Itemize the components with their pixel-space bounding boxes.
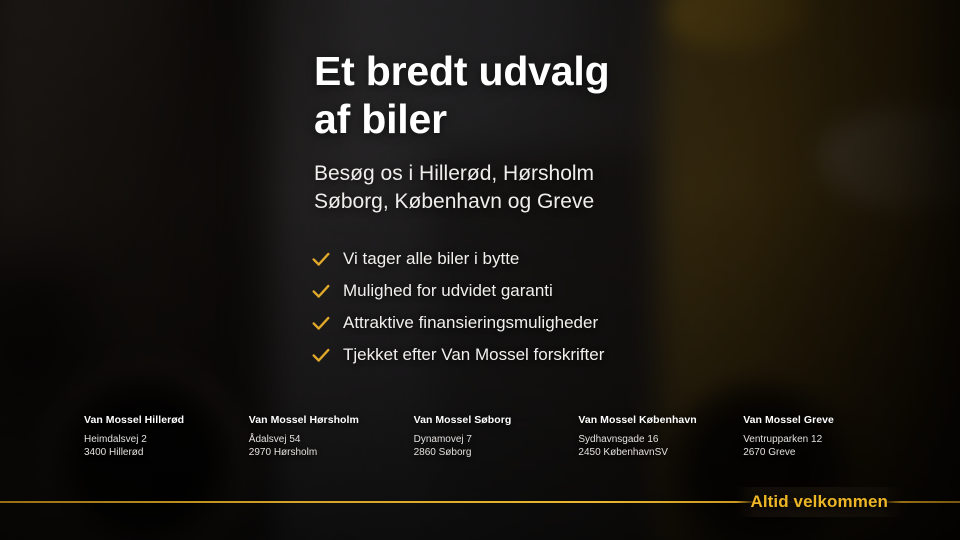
benefit-item: Attraktive finansieringsmuligheder xyxy=(310,307,604,338)
dealer-hillerod: Van Mossel Hillerød Heimdalsvej 2 3400 H… xyxy=(84,414,249,460)
dealer-greve: Van Mossel Greve Ventrupparken 12 2670 G… xyxy=(743,414,908,460)
dealer-street: Dynamovej 7 xyxy=(414,433,579,446)
dealer-name: Van Mossel Greve xyxy=(743,414,908,426)
benefit-label: Tjekket efter Van Mossel forskrifter xyxy=(343,346,604,363)
dealer-name: Van Mossel København xyxy=(578,414,743,426)
dealer-street: Heimdalsvej 2 xyxy=(84,433,249,446)
promo-banner: Et bredt udvalg af biler Besøg os i Hill… xyxy=(0,0,960,540)
benefit-label: Mulighed for udvidet garanti xyxy=(343,282,553,299)
tagline-container: Altid velkommen xyxy=(736,487,902,517)
dealer-city: 2670 Greve xyxy=(743,446,908,459)
benefit-item: Tjekket efter Van Mossel forskrifter xyxy=(310,339,604,370)
check-icon xyxy=(310,312,332,334)
check-icon xyxy=(310,280,332,302)
dealer-street: Ådalsvej 54 xyxy=(249,433,414,446)
benefit-label: Attraktive finansieringsmuligheder xyxy=(343,314,598,331)
subtitle: Besøg os i Hillerød, Hørsholm Søborg, Kø… xyxy=(314,160,934,216)
dealer-name: Van Mossel Hillerød xyxy=(84,414,249,426)
dealer-horsholm: Van Mossel Hørsholm Ådalsvej 54 2970 Hør… xyxy=(249,414,414,460)
banner-content: Et bredt udvalg af biler Besøg os i Hill… xyxy=(0,0,960,540)
dealer-city: 2970 Hørsholm xyxy=(249,446,414,459)
tagline: Altid velkommen xyxy=(750,492,888,512)
dealer-city: 3400 Hillerød xyxy=(84,446,249,459)
headline: Et bredt udvalg af biler xyxy=(314,48,914,144)
benefit-label: Vi tager alle biler i bytte xyxy=(343,250,519,267)
dealer-kobenhavn: Van Mossel København Sydhavnsgade 16 245… xyxy=(578,414,743,460)
dealer-soborg: Van Mossel Søborg Dynamovej 7 2860 Søbor… xyxy=(414,414,579,460)
dealer-locations: Van Mossel Hillerød Heimdalsvej 2 3400 H… xyxy=(84,414,908,460)
benefit-item: Mulighed for udvidet garanti xyxy=(310,275,604,306)
check-icon xyxy=(310,248,332,270)
check-icon xyxy=(310,344,332,366)
dealer-city: 2860 Søborg xyxy=(414,446,579,459)
dealer-street: Ventrupparken 12 xyxy=(743,433,908,446)
dealer-street: Sydhavnsgade 16 xyxy=(578,433,743,446)
benefit-item: Vi tager alle biler i bytte xyxy=(310,243,604,274)
benefits-list: Vi tager alle biler i bytte Mulighed for… xyxy=(310,243,604,371)
dealer-city: 2450 KøbenhavnSV xyxy=(578,446,743,459)
dealer-name: Van Mossel Søborg xyxy=(414,414,579,426)
dealer-name: Van Mossel Hørsholm xyxy=(249,414,414,426)
